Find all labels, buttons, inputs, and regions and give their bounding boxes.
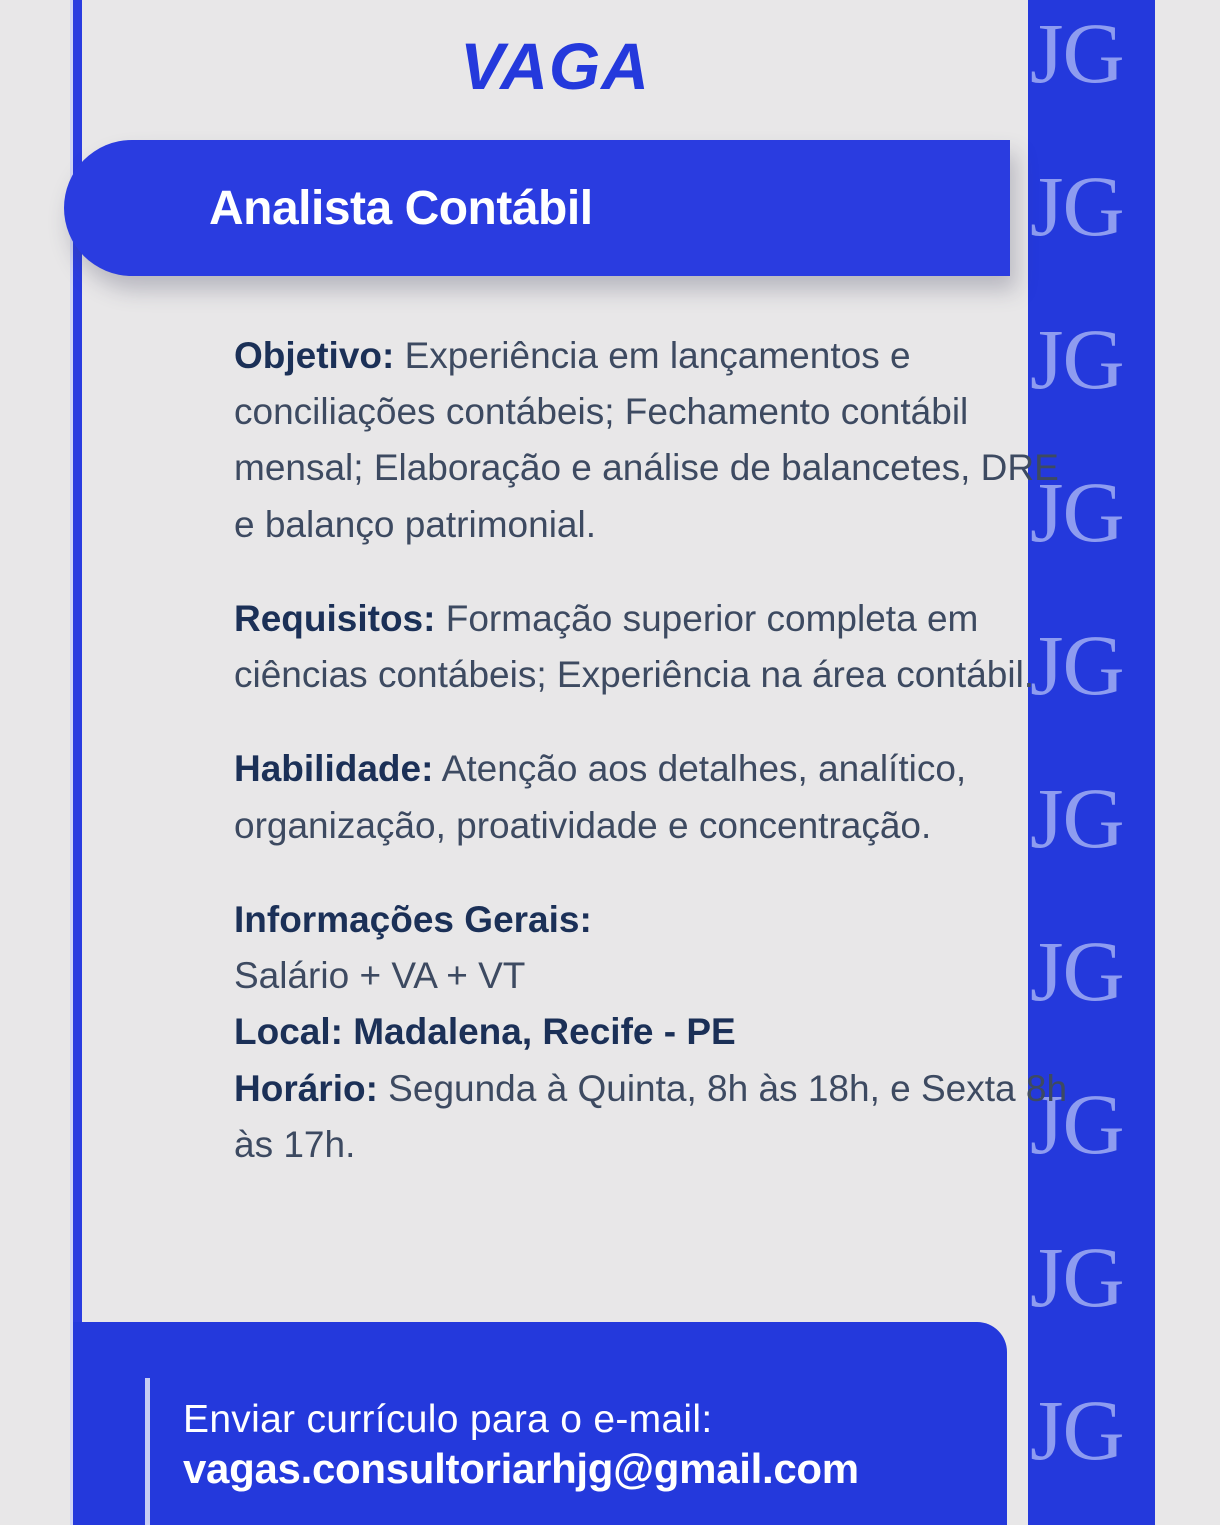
- contact-email[interactable]: vagas.consultoriarhjg@gmail.com: [183, 1444, 983, 1494]
- section-requisitos-label: Requisitos:: [234, 598, 435, 639]
- section-requisitos: Requisitos: Formação superior completa e…: [234, 591, 1086, 703]
- informacoes-gerais-horario: Horário: Segunda à Quinta, 8h às 18h, e …: [234, 1061, 1086, 1173]
- section-objetivo-label: Objetivo:: [234, 335, 394, 376]
- page-eyebrow-vaga: VAGA: [82, 28, 1028, 104]
- job-title-pill: Analista Contábil: [64, 140, 1010, 276]
- footer-divider-rule: [145, 1378, 150, 1525]
- section-informacoes-gerais: Informações Gerais: Salário + VA + VT Lo…: [234, 892, 1086, 1173]
- jg-watermark: JG: [1028, 1387, 1155, 1473]
- contact-call-to-action: Enviar currículo para o e-mail:: [183, 1396, 983, 1444]
- informacoes-gerais-local: Local: Madalena, Recife - PE: [234, 1004, 1086, 1060]
- informacoes-gerais-salario: Salário + VA + VT: [234, 948, 1086, 1004]
- contact-text-group: Enviar currículo para o e-mail: vagas.co…: [183, 1396, 983, 1494]
- jg-watermark: JG: [1028, 1234, 1155, 1320]
- job-title-label: Analista Contábil: [209, 181, 593, 236]
- informacoes-gerais-heading: Informações Gerais:: [234, 892, 1086, 948]
- jg-watermark: JG: [1028, 163, 1155, 249]
- section-habilidade: Habilidade: Atenção aos detalhes, analít…: [234, 741, 1086, 853]
- job-vacancy-poster: JGJGJGJGJGJGJGJGJGJG VAGA Objetivo: Expe…: [0, 0, 1220, 1525]
- job-details-body: Objetivo: Experiência em lançamentos e c…: [234, 328, 1086, 1173]
- section-objetivo: Objetivo: Experiência em lançamentos e c…: [234, 328, 1086, 553]
- contact-footer-panel: Enviar currículo para o e-mail: vagas.co…: [73, 1322, 1007, 1525]
- jg-watermark: JG: [1028, 10, 1155, 96]
- informacoes-gerais-horario-label: Horário:: [234, 1068, 378, 1109]
- section-habilidade-label: Habilidade:: [234, 748, 433, 789]
